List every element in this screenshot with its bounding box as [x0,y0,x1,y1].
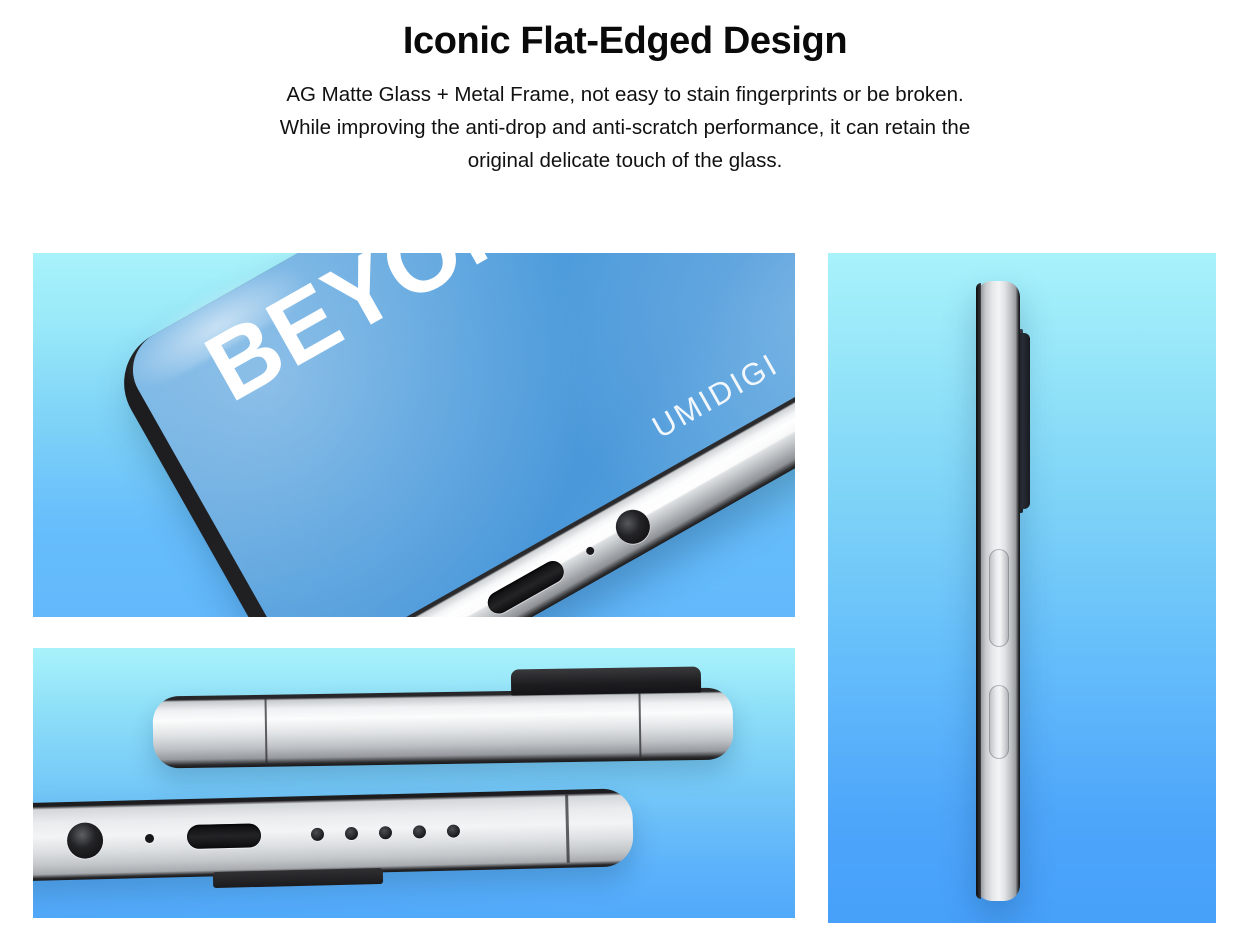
sim-tray-icon [213,868,383,888]
microphone-hole-icon [585,545,596,556]
speaker-hole-icon [311,828,324,841]
product-image-phone-side-profile-view [828,253,1216,923]
subtitle-line-3: original delicate touch of the glass. [0,144,1250,177]
volume-rocker-icon [989,685,1009,759]
usb-c-port-icon [484,557,568,617]
speaker-hole-icon [447,824,460,837]
speaker-hole-icon [413,825,426,838]
phone-corner-render: BEYOND UMIDIGI [105,253,795,617]
phone-body: BEYOND UMIDIGI [105,253,795,617]
subtitle-line-2: While improving the anti-drop and anti-s… [0,111,1250,144]
phone-side-profile-render [976,281,1020,901]
subtitle-block: AG Matte Glass + Metal Frame, not easy t… [0,78,1250,178]
usb-c-port-icon [187,823,262,849]
speaker-hole-icon [345,827,358,840]
product-image-phone-bottom-edge-view [33,648,795,918]
phone-bottom-edge-slab [33,788,634,882]
headphone-jack-icon [67,822,104,859]
headphone-jack-icon [610,504,656,550]
phone-glass-edge [976,283,981,899]
subtitle-line-1: AG Matte Glass + Metal Frame, not easy t… [0,78,1250,111]
product-image-phone-corner-screen-view: BEYOND UMIDIGI [33,253,795,617]
power-button-icon [989,549,1009,647]
header: Iconic Flat-Edged Design AG Matte Glass … [0,0,1250,178]
camera-bump-icon [511,667,701,696]
product-image-gallery: BEYOND UMIDIGI [0,253,1250,923]
phone-metal-frame [976,281,1020,901]
page-title: Iconic Flat-Edged Design [0,22,1250,60]
speaker-hole-icon [379,826,392,839]
microphone-hole-icon [145,834,154,843]
phone-top-edge-slab [152,687,733,768]
